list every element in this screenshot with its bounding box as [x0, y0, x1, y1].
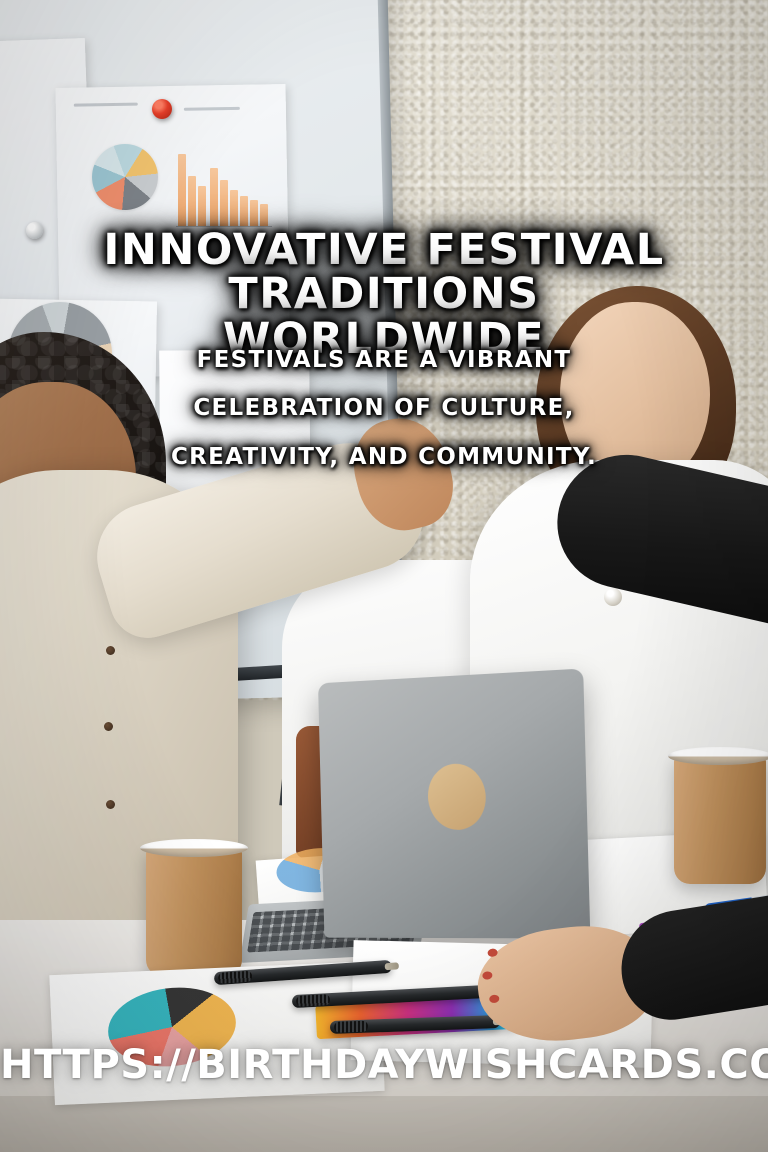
subtitle-line-3: CREATIVITY, AND COMMUNITY. — [0, 433, 768, 481]
subtitle-block: FESTIVALS ARE A VIBRANT CELEBRATION OF C… — [0, 336, 768, 481]
text-overlay: INNOVATIVE FESTIVAL TRADITIONS WORLDWIDE… — [0, 0, 768, 1152]
subtitle-line-1: FESTIVALS ARE A VIBRANT — [0, 336, 768, 384]
footer-website-url[interactable]: HTTPS://BIRTHDAYWISHCARDS.COM — [0, 1042, 768, 1088]
headline-line-1: INNOVATIVE FESTIVAL TRADITIONS — [0, 228, 768, 317]
poster-canvas: INNOVATIVE FESTIVAL TRADITIONS WORLDWIDE… — [0, 0, 768, 1152]
subtitle-line-2: CELEBRATION OF CULTURE, — [0, 384, 768, 432]
